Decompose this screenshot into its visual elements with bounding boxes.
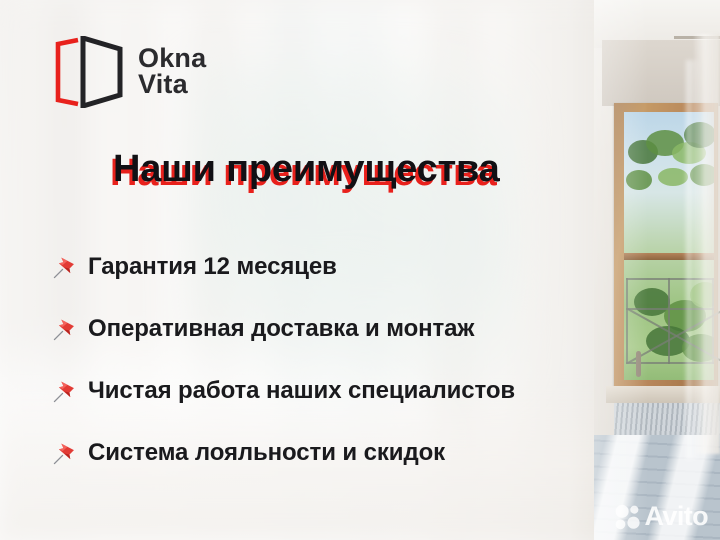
list-item: Чистая работа наших специалистов <box>52 360 632 422</box>
photo-window-handle <box>636 351 641 377</box>
advantages-list: Гарантия 12 месяцев Оперативная доставка… <box>52 236 632 484</box>
pushpin-icon <box>52 254 78 280</box>
pushpin-icon <box>52 316 78 342</box>
photo-sheer-curtain-inner <box>686 60 700 460</box>
avito-watermark: Avito <box>614 503 709 530</box>
pushpin-icon <box>52 378 78 404</box>
list-item-label: Чистая работа наших специалистов <box>88 377 515 405</box>
pushpin-icon <box>52 440 78 466</box>
window-frame-icon <box>52 36 124 108</box>
list-item-label: Оперативная доставка и монтаж <box>88 315 474 343</box>
brand-name: Okna Vita <box>138 46 206 98</box>
avito-watermark-text: Avito <box>645 503 709 530</box>
poster: Okna Vita Наши преимущества Гарантия 12 … <box>0 0 720 540</box>
list-item: Оперативная доставка и монтаж <box>52 298 632 360</box>
list-item: Гарантия 12 месяцев <box>52 236 632 298</box>
list-item-label: Гарантия 12 месяцев <box>88 253 337 281</box>
list-item-label: Система лояльности и скидок <box>88 439 445 467</box>
page-title: Наши преимущества <box>113 148 500 191</box>
brand-logo: Okna Vita <box>52 36 206 108</box>
brand-name-line2: Vita <box>138 72 206 98</box>
list-item: Система лояльности и скидок <box>52 422 632 484</box>
avito-logo-icon <box>614 504 640 530</box>
